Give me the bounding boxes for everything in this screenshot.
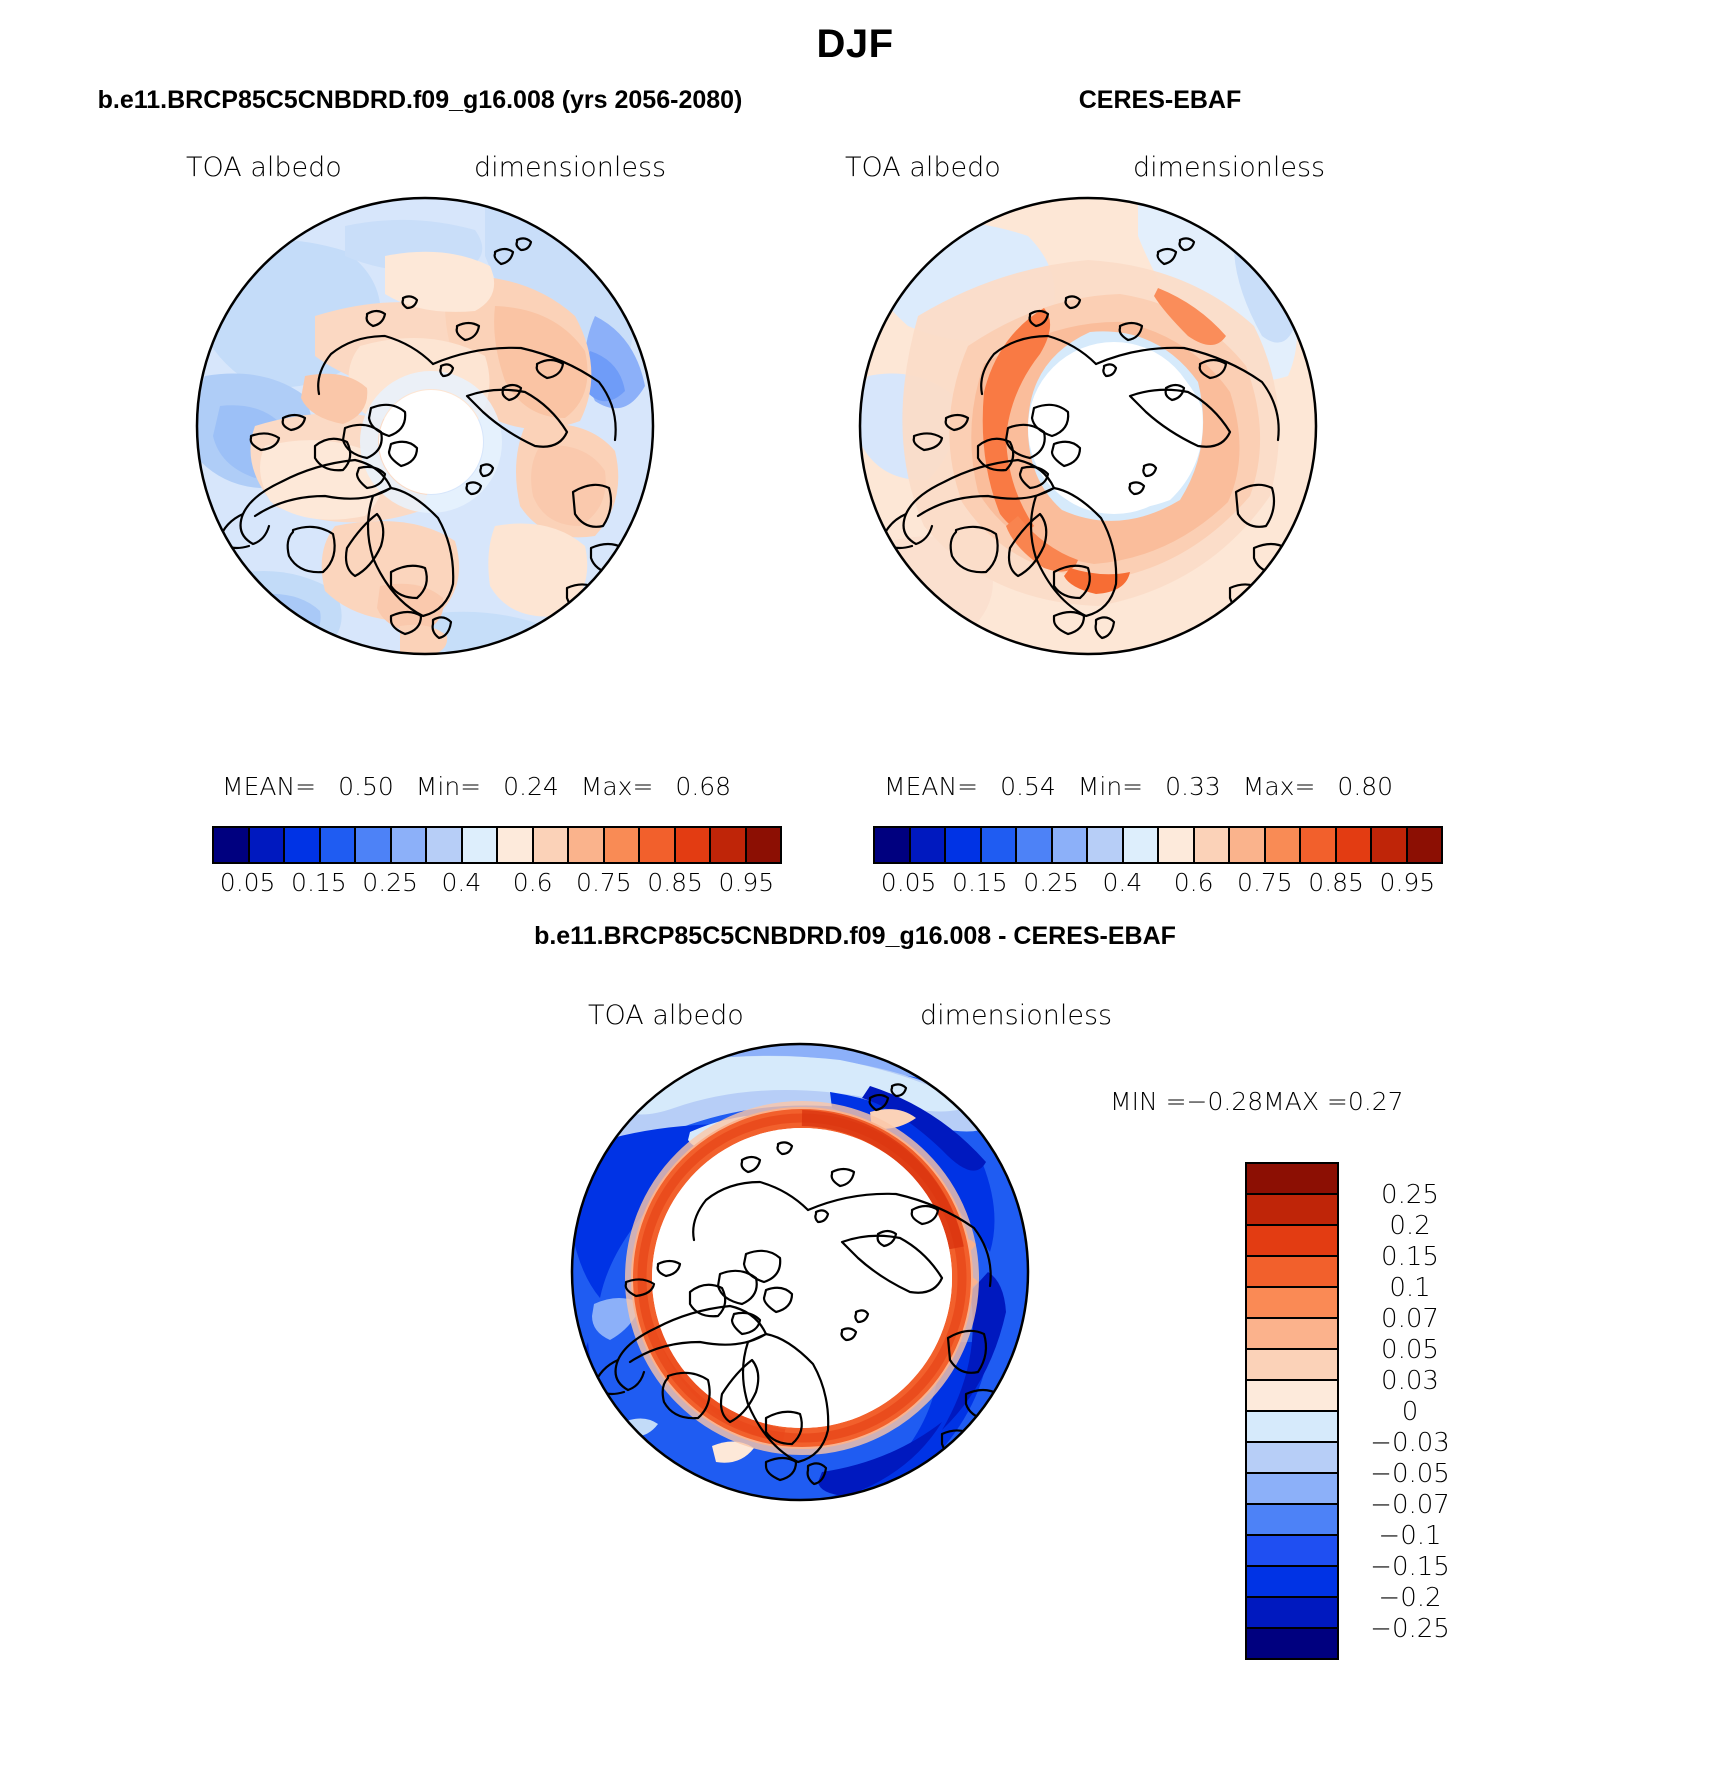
colorbar-tick-label: 0.85 — [1308, 868, 1364, 897]
colorbar-segment — [427, 828, 463, 862]
colorbar-segment — [747, 828, 781, 862]
colorbar-segment — [1247, 1350, 1337, 1381]
model-max-value: 0.68 — [675, 772, 731, 801]
model-colorbar: 0.050.150.250.40.60.750.850.95 — [212, 826, 782, 904]
obs-panel-title: CERES-EBAF — [880, 86, 1440, 115]
colorbar-segment — [1301, 828, 1337, 862]
obs-colorbar-labels: 0.050.150.250.40.60.750.850.95 — [873, 868, 1443, 904]
diff-max-label: MAX = — [1263, 1087, 1348, 1116]
obs-max-value: 0.80 — [1337, 772, 1393, 801]
colorbar-tick-label: −0.05 — [1345, 1459, 1475, 1489]
colorbar-segment — [1247, 1505, 1337, 1536]
colorbar-tick-label: 0.6 — [1174, 868, 1214, 897]
obs-stats-line: MEAN=0.54Min=0.33Max=0.80 — [884, 772, 1393, 801]
colorbar-segment — [1247, 1412, 1337, 1443]
colorbar-segment — [534, 828, 570, 862]
colorbar-tick-label: −0.2 — [1345, 1583, 1475, 1613]
obs-map-svg — [858, 196, 1318, 656]
colorbar-tick-label: 0.75 — [1237, 868, 1293, 897]
obs-min-label: Min= — [1078, 772, 1143, 801]
colorbar-segment — [1247, 1381, 1337, 1412]
diff-polar-map — [570, 1042, 1030, 1502]
diff-min-value: −0.28 — [1187, 1087, 1264, 1116]
obs-polar-map — [858, 196, 1318, 656]
colorbar-segment — [605, 828, 641, 862]
colorbar-segment — [321, 828, 357, 862]
colorbar-segment — [1247, 1474, 1337, 1505]
colorbar-segment — [1247, 1536, 1337, 1567]
colorbar-segment — [911, 828, 947, 862]
colorbar-segment — [1230, 828, 1266, 862]
colorbar-tick-label: 0.75 — [576, 868, 632, 897]
obs-mean-value: 0.54 — [1000, 772, 1056, 801]
diff-colorbar-labels: 0.250.20.150.10.070.050.030−0.03−0.05−0.… — [1345, 1162, 1495, 1660]
colorbar-segment — [1372, 828, 1408, 862]
colorbar-tick-label: 0.85 — [647, 868, 703, 897]
colorbar-tick-label: 0.95 — [1380, 868, 1436, 897]
diff-max-value: 0.27 — [1348, 1087, 1404, 1116]
colorbar-segment — [1408, 828, 1442, 862]
colorbar-segment — [1247, 1195, 1337, 1226]
colorbar-segment — [1247, 1629, 1337, 1658]
colorbar-tick-label: 0.4 — [441, 868, 481, 897]
colorbar-segment — [250, 828, 286, 862]
model-mean-label: MEAN= — [222, 772, 316, 801]
colorbar-segment — [1159, 828, 1195, 862]
colorbar-segment — [1053, 828, 1089, 862]
colorbar-tick-label: 0.4 — [1102, 868, 1142, 897]
obs-min-value: 0.33 — [1165, 772, 1221, 801]
colorbar-tick-label: 0.05 — [1345, 1335, 1475, 1365]
colorbar-segment — [640, 828, 676, 862]
colorbar-tick-label: −0.1 — [1345, 1521, 1475, 1551]
colorbar-segment — [946, 828, 982, 862]
colorbar-segment — [285, 828, 321, 862]
colorbar-tick-label: 0.03 — [1345, 1366, 1475, 1396]
model-mean-value: 0.50 — [338, 772, 394, 801]
model-colorbar-labels: 0.050.150.250.40.60.750.850.95 — [212, 868, 782, 904]
obs-colorbar-strip — [873, 826, 1443, 864]
obs-variable-label: TOA albedo — [845, 152, 1001, 183]
diff-minmax-line: MIN =−0.28MAX =0.27 — [1110, 1087, 1404, 1116]
colorbar-segment — [1247, 1319, 1337, 1350]
colorbar-tick-label: 0.15 — [952, 868, 1008, 897]
colorbar-tick-label: 0.07 — [1345, 1304, 1475, 1334]
colorbar-segment — [356, 828, 392, 862]
colorbar-segment — [1266, 828, 1302, 862]
colorbar-segment — [392, 828, 428, 862]
colorbar-tick-label: 0 — [1345, 1397, 1475, 1427]
diff-colorbar: 0.250.20.150.10.070.050.030−0.03−0.05−0.… — [1245, 1162, 1339, 1660]
model-max-label: Max= — [581, 772, 654, 801]
colorbar-segment — [214, 828, 250, 862]
colorbar-segment — [1247, 1226, 1337, 1257]
colorbar-segment — [1195, 828, 1231, 862]
model-colorbar-strip — [212, 826, 782, 864]
colorbar-tick-label: 0.05 — [220, 868, 276, 897]
colorbar-segment — [875, 828, 911, 862]
obs-max-label: Max= — [1243, 772, 1316, 801]
colorbar-segment — [569, 828, 605, 862]
colorbar-segment — [676, 828, 712, 862]
colorbar-tick-label: 0.2 — [1345, 1211, 1475, 1241]
colorbar-segment — [1017, 828, 1053, 862]
model-min-label: Min= — [416, 772, 481, 801]
diff-panel-title: b.e11.BRCP85C5CNBDRD.f09_g16.008 - CERES… — [0, 922, 1710, 951]
obs-units-label: dimensionless — [1133, 152, 1325, 183]
model-stats-line: MEAN=0.50Min=0.24Max=0.68 — [222, 772, 731, 801]
colorbar-segment — [711, 828, 747, 862]
colorbar-tick-label: 0.25 — [362, 868, 418, 897]
colorbar-segment — [1247, 1598, 1337, 1629]
diff-map-svg — [570, 1042, 1030, 1502]
obs-mean-label: MEAN= — [884, 772, 978, 801]
colorbar-tick-label: 0.15 — [291, 868, 347, 897]
model-polar-map — [195, 196, 655, 656]
colorbar-segment — [1088, 828, 1124, 862]
colorbar-tick-label: 0.95 — [719, 868, 775, 897]
colorbar-tick-label: 0.6 — [513, 868, 553, 897]
colorbar-tick-label: −0.03 — [1345, 1428, 1475, 1458]
colorbar-segment — [1247, 1443, 1337, 1474]
colorbar-tick-label: 0.25 — [1345, 1180, 1475, 1210]
model-variable-label: TOA albedo — [186, 152, 342, 183]
colorbar-segment — [1337, 828, 1373, 862]
colorbar-tick-label: 0.05 — [881, 868, 937, 897]
model-panel-title: b.e11.BRCP85C5CNBDRD.f09_g16.008 (yrs 20… — [40, 86, 800, 115]
colorbar-tick-label: −0.07 — [1345, 1490, 1475, 1520]
colorbar-tick-label: 0.1 — [1345, 1273, 1475, 1303]
obs-colorbar: 0.050.150.250.40.60.750.850.95 — [873, 826, 1443, 904]
colorbar-segment — [1247, 1257, 1337, 1288]
colorbar-segment — [498, 828, 534, 862]
model-units-label: dimensionless — [474, 152, 666, 183]
colorbar-segment — [1247, 1567, 1337, 1598]
main-title: DJF — [0, 22, 1710, 67]
colorbar-segment — [463, 828, 499, 862]
colorbar-tick-label: 0.15 — [1345, 1242, 1475, 1272]
colorbar-tick-label: −0.25 — [1345, 1614, 1475, 1644]
figure-page: DJF b.e11.BRCP85C5CNBDRD.f09_g16.008 (yr… — [0, 0, 1710, 1791]
colorbar-segment — [1247, 1288, 1337, 1319]
model-map-svg — [195, 196, 655, 656]
colorbar-segment — [1247, 1164, 1337, 1195]
colorbar-segment — [1124, 828, 1160, 862]
model-min-value: 0.24 — [503, 772, 559, 801]
colorbar-tick-label: 0.25 — [1023, 868, 1079, 897]
diff-min-label: MIN = — [1110, 1087, 1187, 1116]
colorbar-tick-label: −0.15 — [1345, 1552, 1475, 1582]
diff-variable-label: TOA albedo — [588, 1000, 744, 1031]
diff-units-label: dimensionless — [920, 1000, 1112, 1031]
diff-colorbar-strip — [1245, 1162, 1339, 1660]
colorbar-segment — [982, 828, 1018, 862]
